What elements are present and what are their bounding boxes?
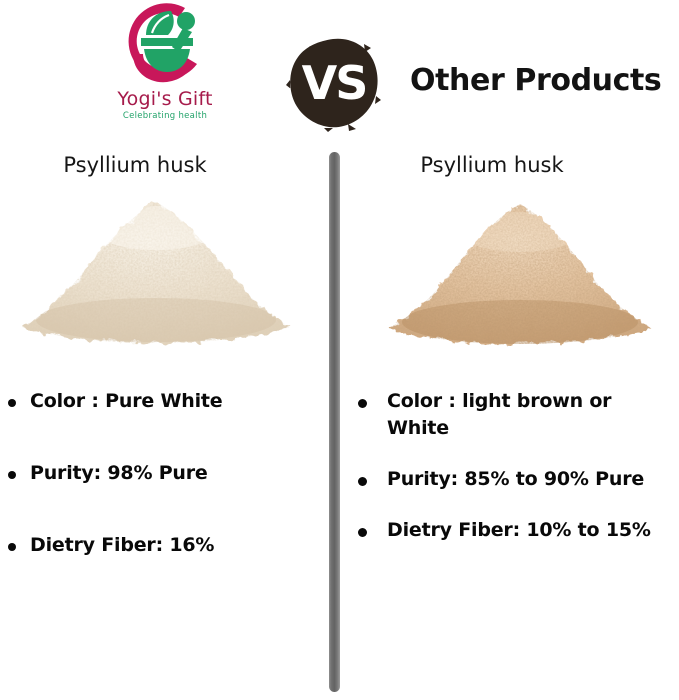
mortar-pestle-leaf-icon xyxy=(119,2,211,90)
psyllium-husk-pile-brown xyxy=(375,188,665,353)
brand-wordmark: Yogi's Gift xyxy=(95,88,235,110)
spec-item-purity: Purity: 85% to 90% Pure xyxy=(349,466,655,493)
header: Yogi's Gift Celebrating health VS Other … xyxy=(0,0,679,145)
brand-logo: Yogi's Gift Celebrating health xyxy=(95,2,235,134)
competitor-title: Other Products xyxy=(410,63,676,98)
product-heading-left: Psyllium husk xyxy=(0,150,330,180)
psyllium-husk-pile-white xyxy=(6,188,306,353)
spec-item-purity: Purity: 98% Pure xyxy=(0,460,330,487)
column-divider xyxy=(329,152,340,692)
spec-item-color: Color : light brown or White xyxy=(349,388,655,442)
spec-list-left: Color : Pure White Purity: 98% Pure Diet… xyxy=(0,388,330,604)
product-image-left-wrap xyxy=(0,188,330,358)
spec-item-color: Color : Pure White xyxy=(0,388,330,415)
brand-tagline: Celebrating health xyxy=(95,111,235,121)
comparison-column-other-products: Psyllium husk xyxy=(349,150,679,700)
versus-label: VS xyxy=(286,36,382,132)
versus-badge: VS xyxy=(286,36,382,132)
comparison-column-yogis-gift: Psyllium husk xyxy=(0,150,330,700)
spec-list-right: Color : light brown or White Purity: 85%… xyxy=(349,388,679,568)
spec-item-dietary-fiber: Dietry Fiber: 10% to 15% xyxy=(349,517,655,544)
spec-item-dietary-fiber: Dietry Fiber: 16% xyxy=(0,532,330,559)
product-image-right-wrap xyxy=(349,188,679,358)
product-heading-right: Psyllium husk xyxy=(349,150,679,180)
